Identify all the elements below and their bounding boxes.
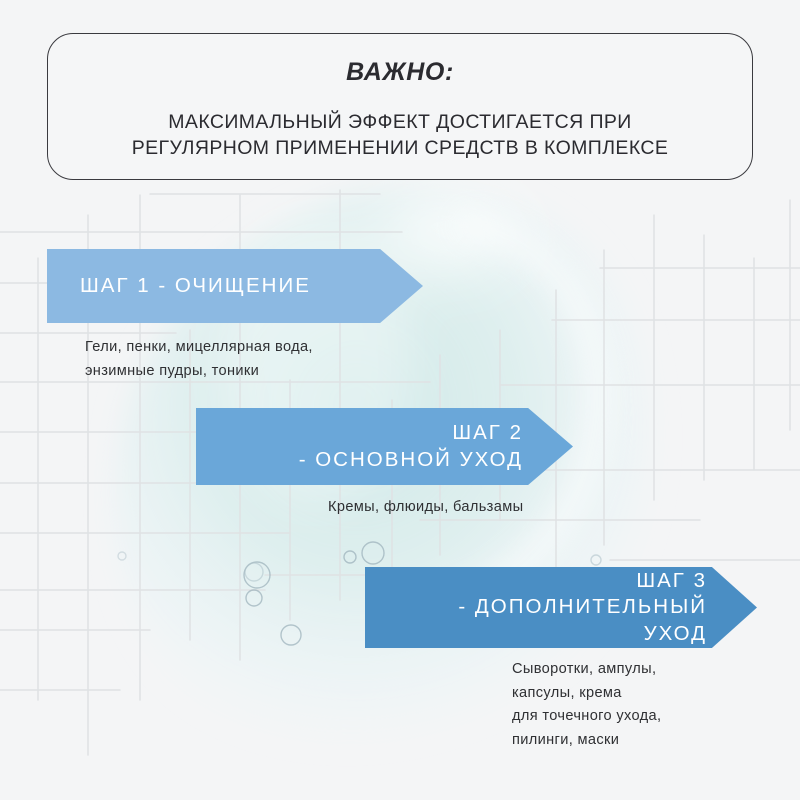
step-1-arrow-banner[interactable]: ШАГ 1 - ОЧИЩЕНИЕ bbox=[47, 249, 423, 323]
important-title: ВАЖНО: bbox=[346, 58, 454, 87]
step-3-arrow-banner[interactable]: ШАГ 3 - ДОПОЛНИТЕЛЬНЫЙ УХОД bbox=[365, 567, 757, 648]
step-2-arrow-banner[interactable]: ШАГ 2 - ОСНОВНОЙ УХОД bbox=[196, 408, 573, 485]
important-callout-box: ВАЖНО: МАКСИМАЛЬНЫЙ ЭФФЕКТ ДОСТИГАЕТСЯ П… bbox=[47, 33, 753, 180]
step-2-caption: Кремы, флюиды, бальзамы bbox=[328, 496, 523, 520]
infographic-canvas: ВАЖНО: МАКСИМАЛЬНЫЙ ЭФФЕКТ ДОСТИГАЕТСЯ П… bbox=[0, 0, 800, 800]
important-body-text: МАКСИМАЛЬНЫЙ ЭФФЕКТ ДОСТИГАЕТСЯ ПРИ РЕГУ… bbox=[132, 109, 669, 161]
step-3-label: ШАГ 3 - ДОПОЛНИТЕЛЬНЫЙ УХОД bbox=[385, 568, 707, 648]
step-2-label: ШАГ 2 - ОСНОВНОЙ УХОД bbox=[220, 420, 523, 473]
step-1-caption: Гели, пенки, мицеллярная вода, энзимные … bbox=[85, 336, 313, 383]
step-3-caption: Сыворотки, ампулы, капсулы, крема для то… bbox=[512, 658, 661, 753]
step-1-label: ШАГ 1 - ОЧИЩЕНИЕ bbox=[80, 273, 363, 300]
